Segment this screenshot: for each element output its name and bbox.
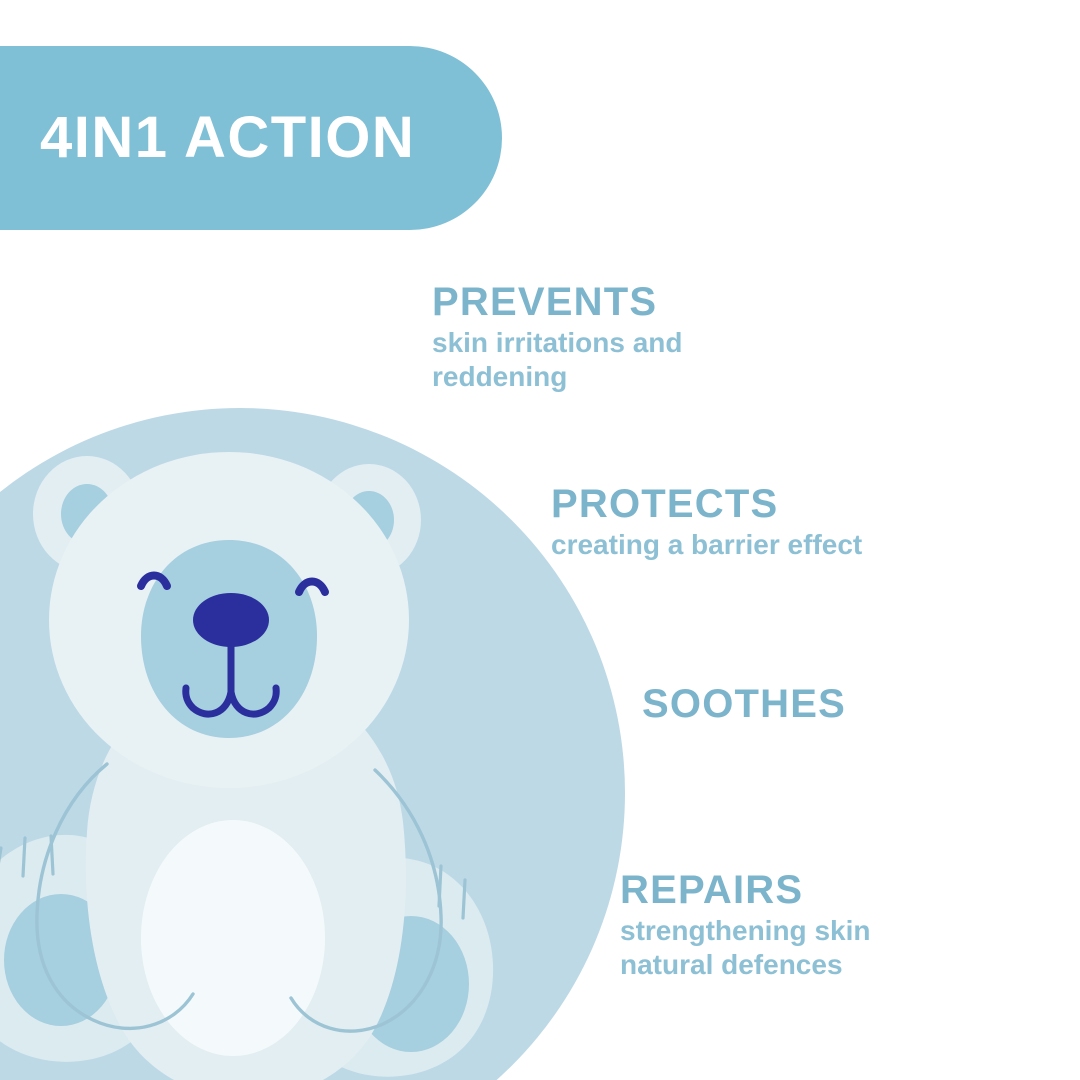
benefit-soothes: SOOTHES — [642, 683, 846, 726]
infographic-canvas: 4IN1 ACTION — [0, 0, 1080, 1080]
banner-4in1-action: 4IN1 ACTION — [0, 46, 502, 230]
teddy-bear-illustration — [0, 408, 625, 1080]
benefit-subtext-line: reddening — [432, 360, 683, 394]
benefit-prevents: PREVENTS skin irritations and reddening — [432, 281, 683, 393]
benefit-subtext-line: creating a barrier effect — [551, 528, 862, 562]
benefit-subtext-line: strengthening skin — [620, 914, 870, 948]
banner-title: 4IN1 ACTION — [40, 109, 415, 167]
bear-left-toe-line-2 — [23, 838, 25, 876]
benefit-subtext: skin irritations and reddening — [432, 326, 683, 393]
benefit-protects: PROTECTS creating a barrier effect — [551, 483, 862, 562]
benefit-repairs: REPAIRS strengthening skin natural defen… — [620, 869, 870, 981]
bear-nose — [193, 593, 269, 647]
bear-svg — [0, 408, 625, 1080]
benefit-heading: PREVENTS — [432, 281, 683, 324]
bear-right-toe-line-1 — [463, 880, 465, 918]
benefit-heading: PROTECTS — [551, 483, 862, 526]
benefit-subtext-line: skin irritations and — [432, 326, 683, 360]
benefit-heading: REPAIRS — [620, 869, 870, 912]
benefit-heading: SOOTHES — [642, 683, 846, 726]
benefit-subtext: strengthening skin natural defences — [620, 914, 870, 981]
bear-belly — [141, 820, 325, 1056]
benefit-subtext: creating a barrier effect — [551, 528, 862, 562]
benefit-subtext-line: natural defences — [620, 948, 870, 982]
